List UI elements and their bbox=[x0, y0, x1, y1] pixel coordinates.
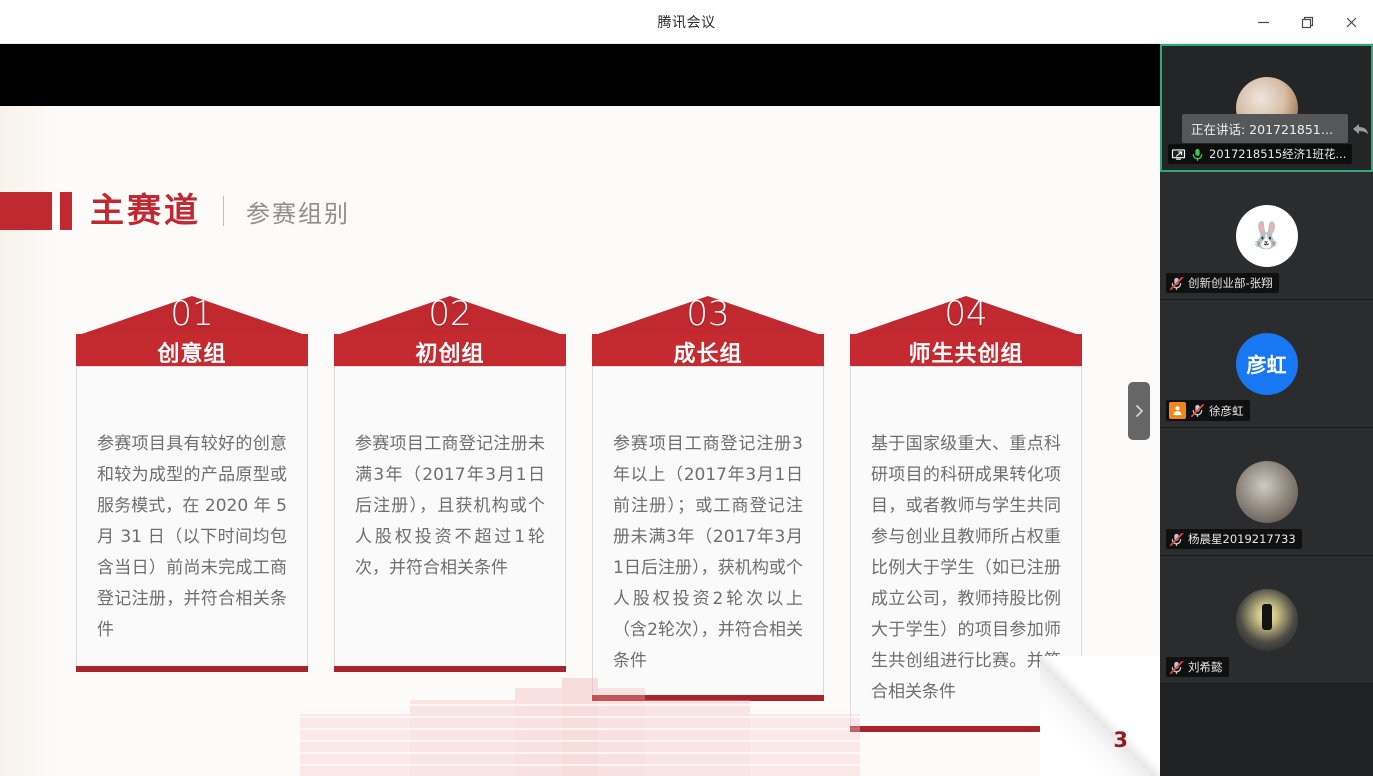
speaking-indicator: 正在讲话: 2017218515经... bbox=[1182, 114, 1370, 143]
avatar: 🐰 bbox=[1236, 205, 1298, 267]
participant-name: 徐彦虹 bbox=[1209, 403, 1244, 419]
card-number: 02 bbox=[334, 294, 566, 334]
group-card-03: 03 成长组 参赛项目工商登记注册3年以上（2017年3月1日前注册）；或工商登… bbox=[592, 296, 824, 701]
maximize-button[interactable] bbox=[1285, 0, 1329, 44]
card-description: 参赛项目工商登记注册未满3年（2017年3月1日后注册），且获机构或个人股权投资… bbox=[335, 367, 565, 602]
rabbit-sticker-icon: 🐰 bbox=[1250, 221, 1282, 251]
participant-tile[interactable]: 2017218515经济1班花... bbox=[1160, 44, 1373, 172]
participant-namebar: 徐彦虹 bbox=[1166, 400, 1250, 421]
participant-namebar: 2017218515经济1班花... bbox=[1168, 144, 1352, 164]
participant-tile[interactable]: 刘希懿 bbox=[1160, 556, 1373, 684]
card-body: 参赛项目具有较好的创意和较为成型的产品原型或服务模式，在 2020 年 5 月 … bbox=[76, 366, 308, 666]
card-group-name: 初创组 bbox=[334, 336, 566, 368]
card-bottom-bar bbox=[334, 666, 566, 672]
minimize-button[interactable] bbox=[1241, 0, 1285, 44]
participant-namebar: 刘希懿 bbox=[1166, 657, 1229, 677]
title-decor-block-wide bbox=[0, 192, 52, 230]
group-cards: 01 创意组 参赛项目具有较好的创意和较为成型的产品原型或服务模式，在 2020… bbox=[76, 296, 1086, 736]
microphone-muted-icon bbox=[1169, 660, 1184, 675]
group-card-02: 02 初创组 参赛项目工商登记注册未满3年（2017年3月1日后注册），且获机构… bbox=[334, 296, 566, 672]
avatar: 彦虹 bbox=[1236, 333, 1298, 395]
page-title: 主赛道 bbox=[90, 194, 201, 228]
card-group-name: 成长组 bbox=[592, 336, 824, 368]
window-titlebar: 腾讯会议 bbox=[0, 0, 1373, 44]
card-number: 03 bbox=[592, 294, 824, 334]
presentation-slide: 主赛道 参赛组别 01 创意组 参赛项目具有较好的创意和较为成型的产品原型或服务… bbox=[0, 106, 1160, 776]
microphone-muted-icon bbox=[1190, 403, 1205, 418]
participant-namebar: 创新创业部-张翔 bbox=[1166, 273, 1279, 293]
shared-screen-area[interactable]: 主赛道 参赛组别 01 创意组 参赛项目具有较好的创意和较为成型的产品原型或服务… bbox=[0, 44, 1160, 776]
screen-share-icon bbox=[1171, 147, 1186, 162]
watermark-window-lines bbox=[300, 686, 860, 776]
avatar bbox=[1236, 461, 1298, 523]
participant-tile[interactable]: 彦虹 徐彦虹 bbox=[1160, 300, 1373, 428]
card-group-name: 师生共创组 bbox=[850, 336, 1082, 368]
title-divider bbox=[223, 196, 224, 226]
app-title: 腾讯会议 bbox=[658, 12, 716, 32]
host-badge-icon bbox=[1169, 402, 1186, 419]
page-subtitle: 参赛组别 bbox=[246, 194, 350, 229]
participant-tile[interactable]: 🐰 创新创业部-张翔 bbox=[1160, 172, 1373, 300]
participant-namebar: 杨晨星2019217733 bbox=[1166, 529, 1302, 549]
card-description: 参赛项目具有较好的创意和较为成型的产品原型或服务模式，在 2020 年 5 月 … bbox=[77, 367, 307, 664]
microphone-muted-icon bbox=[1169, 532, 1184, 547]
participant-name: 刘希懿 bbox=[1188, 659, 1223, 675]
group-card-01: 01 创意组 参赛项目具有较好的创意和较为成型的产品原型或服务模式，在 2020… bbox=[76, 296, 308, 672]
speaking-label: 正在讲话: 2017218515经... bbox=[1182, 114, 1348, 143]
card-bottom-bar bbox=[76, 666, 308, 672]
card-number: 04 bbox=[850, 294, 1082, 334]
participant-tile[interactable]: 杨晨星2019217733 bbox=[1160, 428, 1373, 556]
microphone-icon bbox=[1190, 147, 1205, 162]
card-number: 01 bbox=[76, 294, 308, 334]
arrow-left-icon[interactable] bbox=[1352, 122, 1370, 136]
page-curl-decor bbox=[1040, 656, 1160, 776]
participant-name: 创新创业部-张翔 bbox=[1188, 275, 1273, 291]
avatar bbox=[1236, 589, 1298, 651]
slide-page-number: 3 bbox=[1113, 728, 1128, 752]
participant-name: 杨晨星2019217733 bbox=[1188, 531, 1296, 547]
silhouette-figure-icon bbox=[1262, 604, 1272, 630]
close-button[interactable] bbox=[1329, 0, 1373, 44]
participant-name: 2017218515经济1班花... bbox=[1209, 146, 1346, 162]
window-controls bbox=[1241, 0, 1373, 44]
card-description: 参赛项目工商登记注册3年以上（2017年3月1日前注册）；或工商登记注册未满3年… bbox=[593, 367, 823, 695]
building-watermark bbox=[300, 686, 860, 776]
microphone-muted-icon bbox=[1169, 276, 1184, 291]
chevron-right-icon[interactable] bbox=[1128, 382, 1150, 440]
title-decor-block-narrow bbox=[60, 192, 72, 230]
participant-panel[interactable]: 正在讲话: 2017218515经... 2017218515经济1班花... bbox=[1160, 44, 1373, 776]
slide-title-row: 主赛道 参赛组别 bbox=[0, 188, 350, 234]
card-body: 参赛项目工商登记注册未满3年（2017年3月1日后注册），且获机构或个人股权投资… bbox=[334, 366, 566, 666]
card-body: 参赛项目工商登记注册3年以上（2017年3月1日前注册）；或工商登记注册未满3年… bbox=[592, 366, 824, 695]
card-group-name: 创意组 bbox=[76, 336, 308, 368]
